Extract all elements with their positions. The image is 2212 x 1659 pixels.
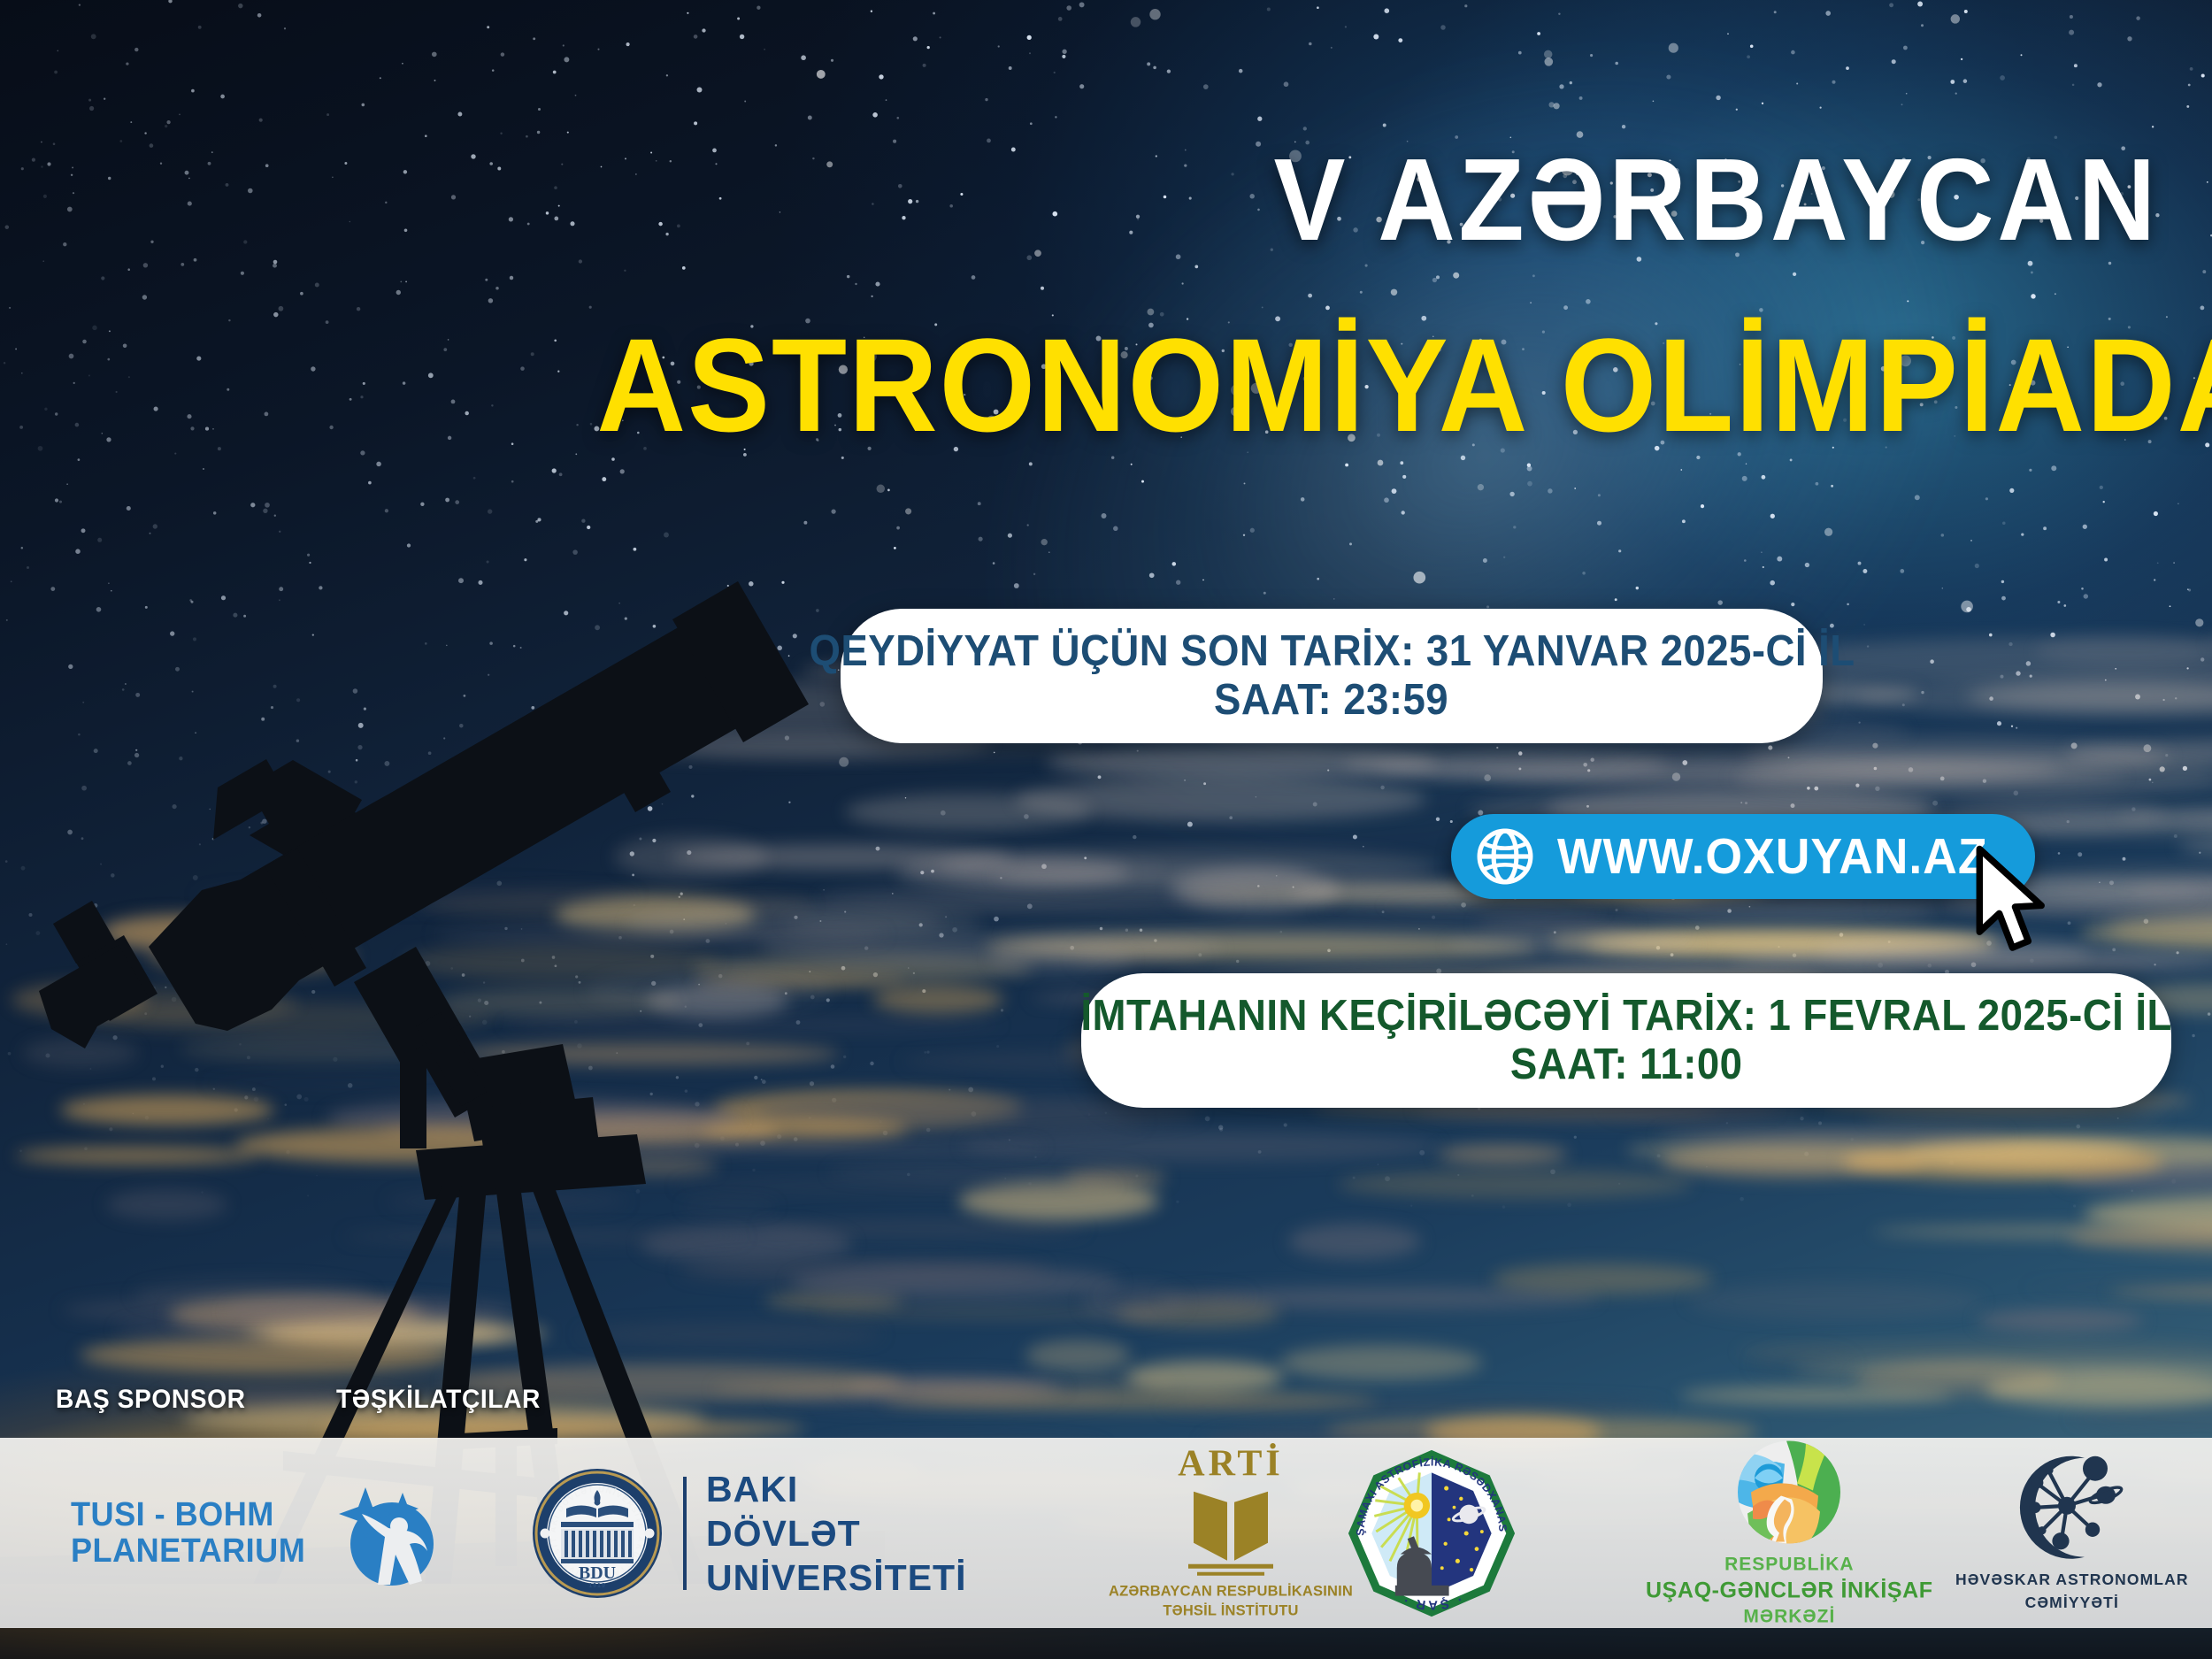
main-sponsor-label: BAŞ SPONSOR [56, 1385, 246, 1415]
tusi-name-line1: TUSI - BOHM [71, 1497, 305, 1532]
logo-arti: ARTİ AZƏRBAYCAN RESPUBLİKASININ TƏHSİL İ… [1109, 1445, 1353, 1621]
planetarium-figure-icon [334, 1475, 440, 1592]
crescent-moon-star-network-icon [2010, 1452, 2134, 1567]
rugim-caption-line1: RESPUBLİKA [1646, 1552, 1933, 1576]
logo-amateur-astronomers-society: HƏVƏSKAR ASTRONOMLAR CƏMİYYƏTİ [1955, 1452, 2189, 1614]
hac-caption-line1: HƏVƏSKAR ASTRONOMLAR [1955, 1567, 2189, 1590]
arti-acronym: ARTİ [1178, 1445, 1284, 1482]
arti-caption-line1: AZƏRBAYCAN RESPUBLİKASININ [1109, 1581, 1353, 1601]
bdu-year: 1919 [588, 1582, 606, 1588]
mouse-cursor-icon [1971, 845, 2051, 956]
arti-open-book-icon [1185, 1484, 1277, 1576]
tusi-name-line2: PLANETARIUM [71, 1533, 305, 1569]
bdu-seal-icon: BAKI DÖVLƏT UNİVERSİTETİ BAKU STATE UNIV… [531, 1466, 664, 1599]
children-youth-center-icon [1732, 1437, 1847, 1552]
website-url-label: WWW.OXUYAN.AZ [1557, 827, 1987, 886]
bdu-name-line1: BAKI [706, 1466, 966, 1510]
bdu-monogram: BDU [579, 1563, 616, 1582]
registration-deadline-date: QEYDİYYAT ÜÇÜN SON TARİX: 31 YANVAR 2025… [809, 627, 1855, 676]
exam-time: SAAT: 11:00 [1510, 1041, 1743, 1089]
observatory-seal-icon: ŞAMAXI ASTROFİZİKA RƏSƏDXANASI · ŞAR · [1345, 1447, 1518, 1620]
organizers-label: TƏŞKİLATÇILAR [336, 1385, 541, 1415]
globe-icon [1476, 827, 1534, 886]
page-title-line2: ASTRONOMİYA OLİMPİADASI [596, 319, 2177, 451]
telescope-silhouette-icon [0, 566, 885, 1584]
poster: V AZƏRBAYCAN ASTRONOMİYA OLİMPİADASI QEY… [0, 0, 2212, 1659]
bdu-name-line2: DÖVLƏT [706, 1510, 966, 1555]
logo-children-youth-center: RESPUBLİKA UŞAQ-GƏNCLƏR İNKİŞAF MƏRKƏZİ [1646, 1437, 1933, 1629]
rugim-caption-line2: UŞAQ-GƏNCLƏR İNKİŞAF [1646, 1576, 1933, 1605]
registration-deadline-card: QEYDİYYAT ÜÇÜN SON TARİX: 31 YANVAR 2025… [841, 609, 1823, 743]
page-title-line1: V AZƏRBAYCAN [1248, 142, 2159, 258]
hac-caption-line2: CƏMİYYƏTİ [1955, 1591, 2189, 1614]
exam-date-card: İMTAHANIN KEÇİRİLƏCƏYİ TARİX: 1 FEVRAL 2… [1081, 973, 2171, 1108]
registration-deadline-time: SAAT: 23:59 [1214, 676, 1448, 725]
logo-tusi-bohm-planetarium: TUSI - BOHM PLANETARIUM [71, 1475, 440, 1592]
exam-date: İMTAHANIN KEÇİRİLƏCƏYİ TARİX: 1 FEVRAL 2… [1080, 992, 2171, 1041]
sponsor-logo-bar: TUSI - BOHM PLANETARIUM BAKI D [0, 1438, 2212, 1628]
rugim-caption-line3: MƏRKƏZİ [1646, 1605, 1933, 1629]
bdu-name-line3: UNİVERSİTETİ [706, 1555, 966, 1600]
logo-shamakhi-observatory: ŞAMAXI ASTROFİZİKA RƏSƏDXANASI · ŞAR · [1345, 1447, 1518, 1620]
arti-caption-line2: TƏHSİL İNSTİTUTU [1109, 1601, 1353, 1621]
website-button[interactable]: WWW.OXUYAN.AZ [1451, 814, 2035, 899]
logo-baku-state-university: BAKI DÖVLƏT UNİVERSİTETİ BAKU STATE UNIV… [531, 1466, 966, 1599]
bdu-divider [683, 1476, 687, 1589]
